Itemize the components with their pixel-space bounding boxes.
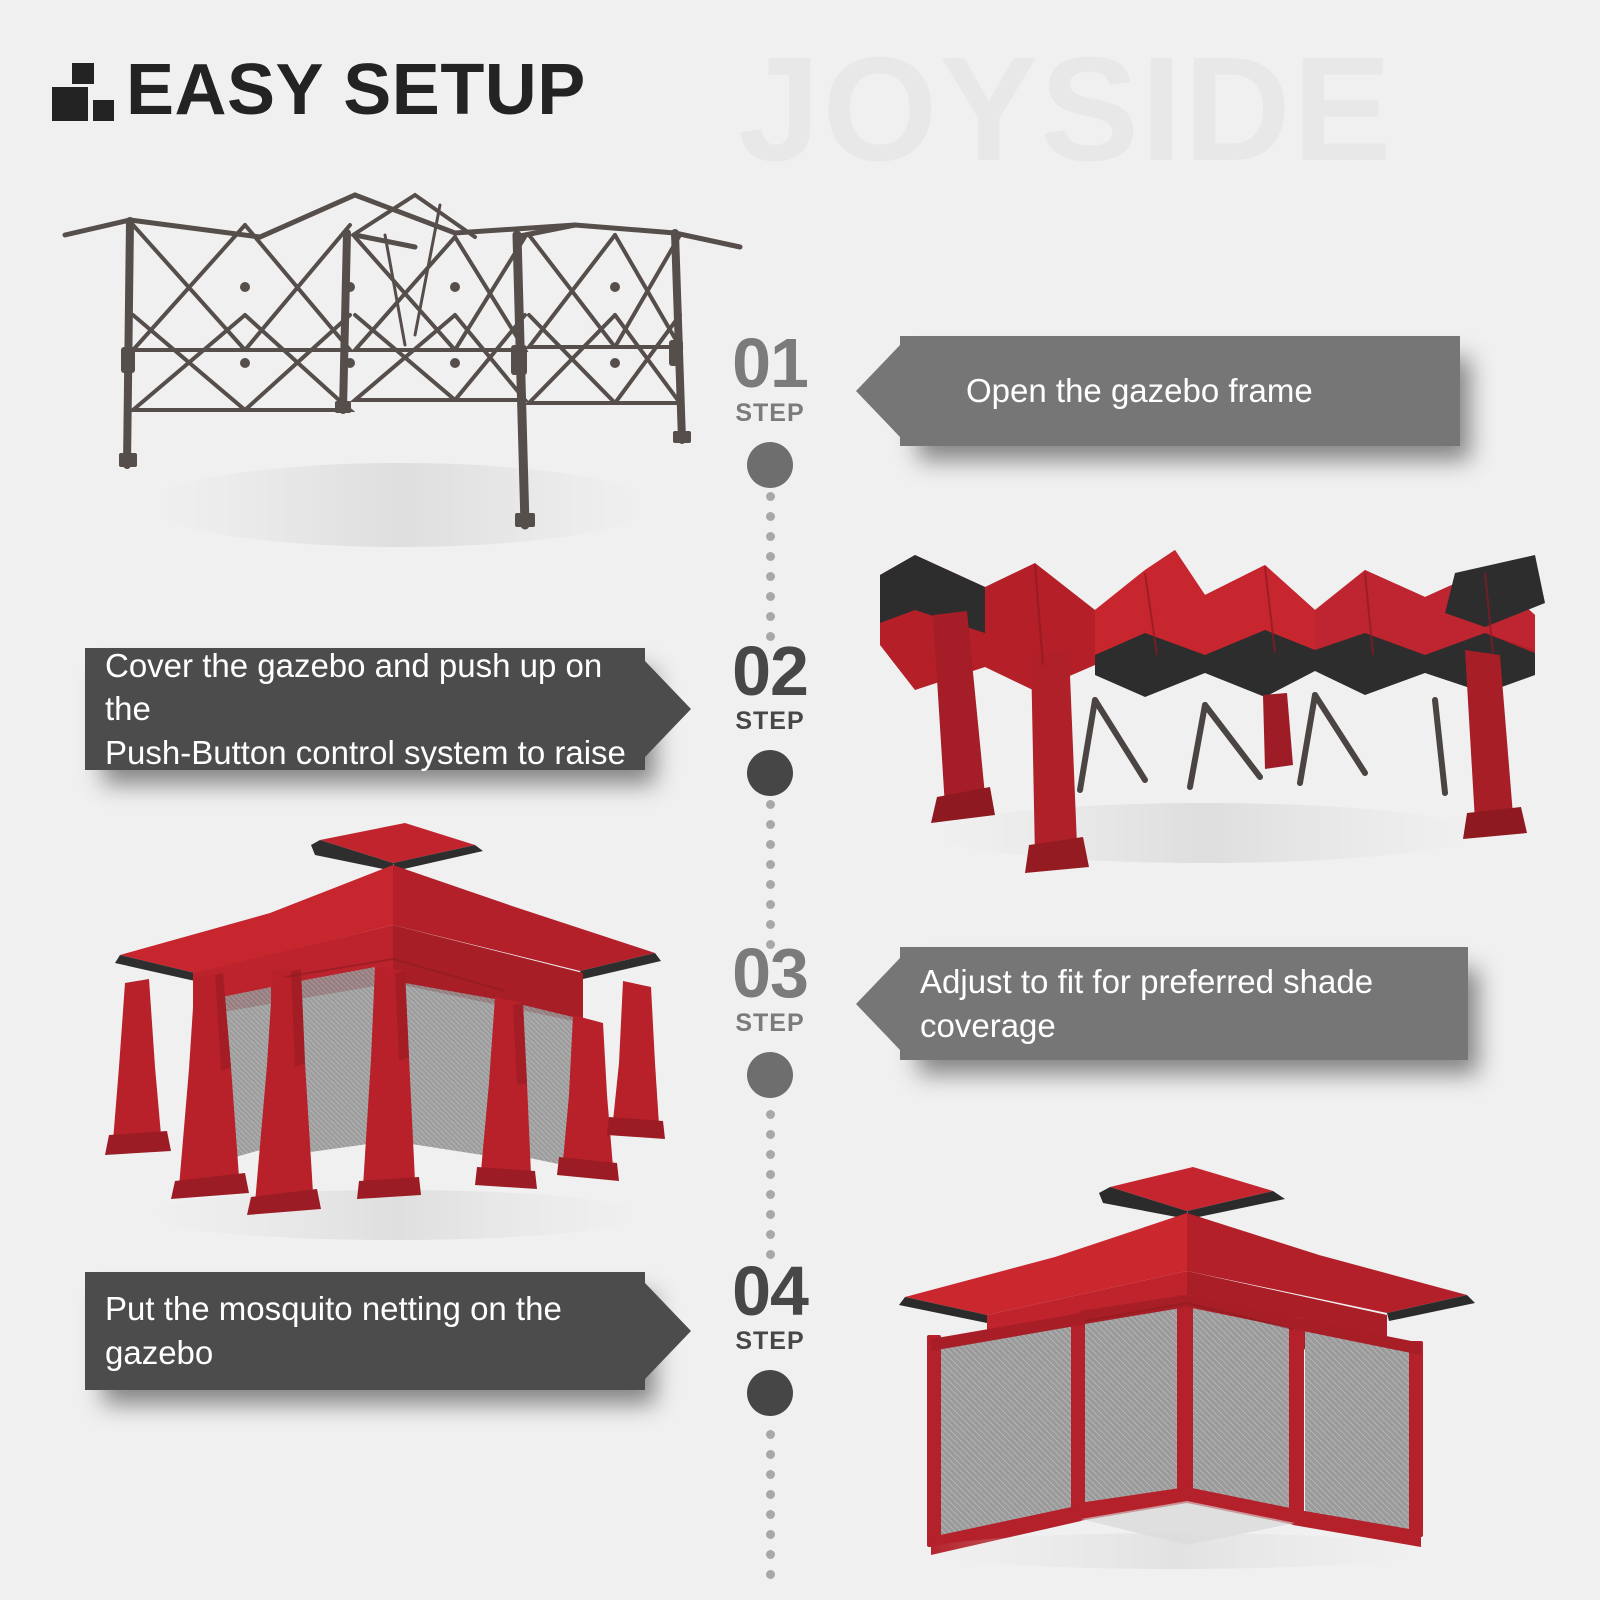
page-title: EASY SETUP [126, 54, 586, 126]
timeline-dots-03-04 [765, 1110, 775, 1259]
photo-gazebo-frame-expanded [55, 175, 745, 575]
step-03-marker: 03 STEP [695, 940, 845, 1098]
step-04-arrow-right-icon [645, 1283, 691, 1379]
step-01-arrow-left-icon [856, 345, 900, 437]
step-02-number: 02 [695, 638, 845, 705]
step-03-callout[interactable]: Adjust to fit for preferred shade covera… [900, 947, 1468, 1060]
timeline-dots-tail [765, 1430, 775, 1579]
step-03-bullet [747, 1052, 793, 1098]
step-01-number: 01 [695, 330, 845, 397]
step-04-bullet [747, 1370, 793, 1416]
step-02-marker: 02 STEP [695, 638, 845, 796]
joyside-logo-icon [52, 59, 104, 121]
step-02-bullet [747, 750, 793, 796]
step-04-number: 04 [695, 1258, 845, 1325]
step-02-arrow-right-icon [645, 661, 691, 757]
step-03-arrow-left-icon [856, 958, 900, 1050]
step-03-text: Adjust to fit for preferred shade covera… [920, 960, 1468, 1047]
brand-watermark: JOYSIDE [738, 36, 1394, 184]
infographic-canvas: JOYSIDE EASY SETUP [0, 0, 1600, 1600]
step-01-callout[interactable]: Open the gazebo frame [900, 336, 1460, 446]
step-03-word: STEP [695, 1009, 845, 1038]
timeline-dots-01-02 [765, 492, 775, 641]
step-02-text-line-1: Cover the gazebo and push up on the [105, 644, 645, 731]
photo-gazebo-canopy-draped [845, 515, 1555, 875]
step-01-text: Open the gazebo frame [966, 369, 1313, 413]
page-header: EASY SETUP [52, 54, 586, 126]
step-03-number: 03 [695, 940, 845, 1007]
step-04-callout[interactable]: Put the mosquito netting on the gazebo [85, 1272, 645, 1390]
photo-gazebo-raised-with-curtains [75, 795, 715, 1255]
step-02-callout[interactable]: Cover the gazebo and push up on the Push… [85, 648, 645, 770]
step-04-text: Put the mosquito netting on the gazebo [105, 1287, 645, 1374]
step-01-marker: 01 STEP [695, 330, 845, 488]
step-02-word: STEP [695, 707, 845, 736]
step-01-word: STEP [695, 399, 845, 428]
step-02-text-line-2: Push-Button control system to raise [105, 731, 626, 775]
step-04-marker: 04 STEP [695, 1258, 845, 1416]
step-04-word: STEP [695, 1327, 845, 1356]
photo-gazebo-complete-with-netting [875, 1145, 1495, 1575]
step-01-bullet [747, 442, 793, 488]
timeline-dots-02-03 [765, 800, 775, 949]
